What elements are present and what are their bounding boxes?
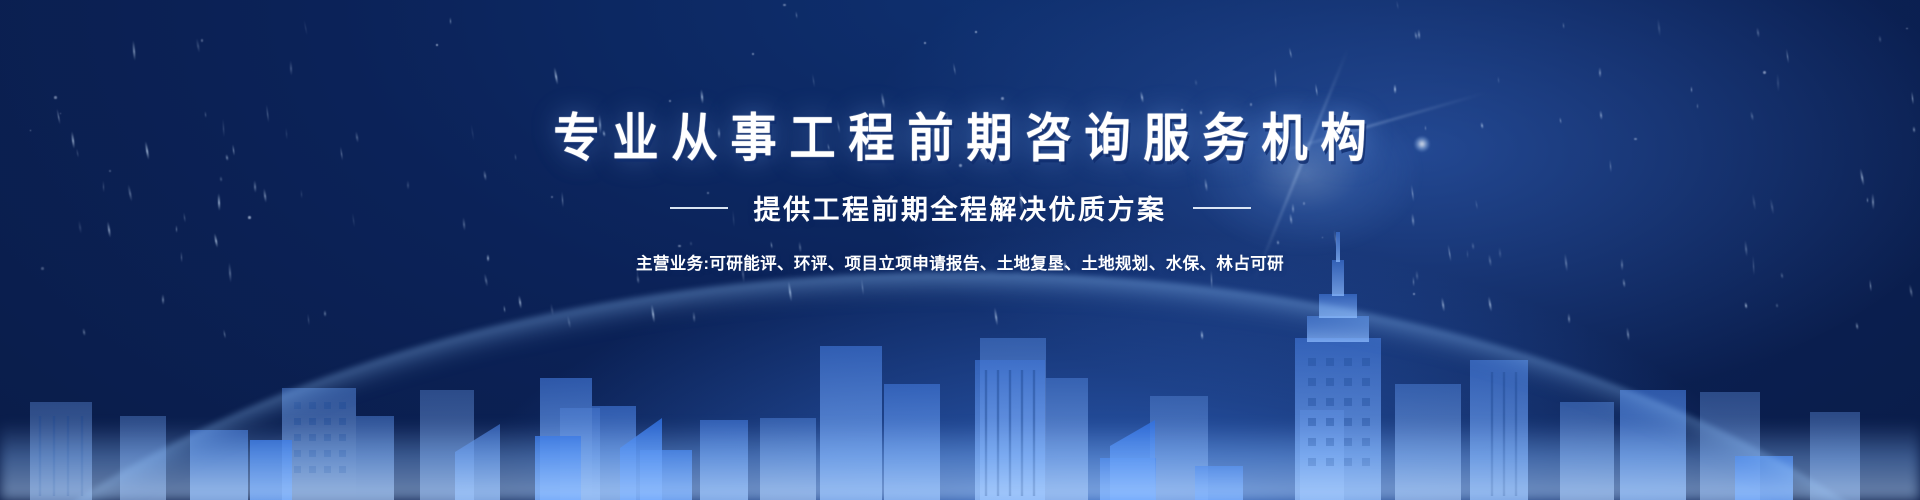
banner-headline: 专业从事工程前期咨询服务机构 [541, 108, 1380, 169]
banner-business-line: 主营业务:可研能评、环评、项目立项申请报告、土地复垦、土地规划、水保、林占可研 [636, 250, 1284, 274]
rule-left-icon [670, 207, 728, 209]
banner-content: 专业从事工程前期咨询服务机构 提供工程前期全程解决优质方案 主营业务:可研能评、… [0, 0, 1920, 500]
banner-subtitle: 提供工程前期全程解决优质方案 [754, 188, 1167, 227]
hero-banner: 专业从事工程前期咨询服务机构 提供工程前期全程解决优质方案 主营业务:可研能评、… [0, 0, 1920, 500]
banner-subtitle-row: 提供工程前期全程解决优质方案 [670, 188, 1251, 227]
rule-right-icon [1193, 207, 1251, 209]
